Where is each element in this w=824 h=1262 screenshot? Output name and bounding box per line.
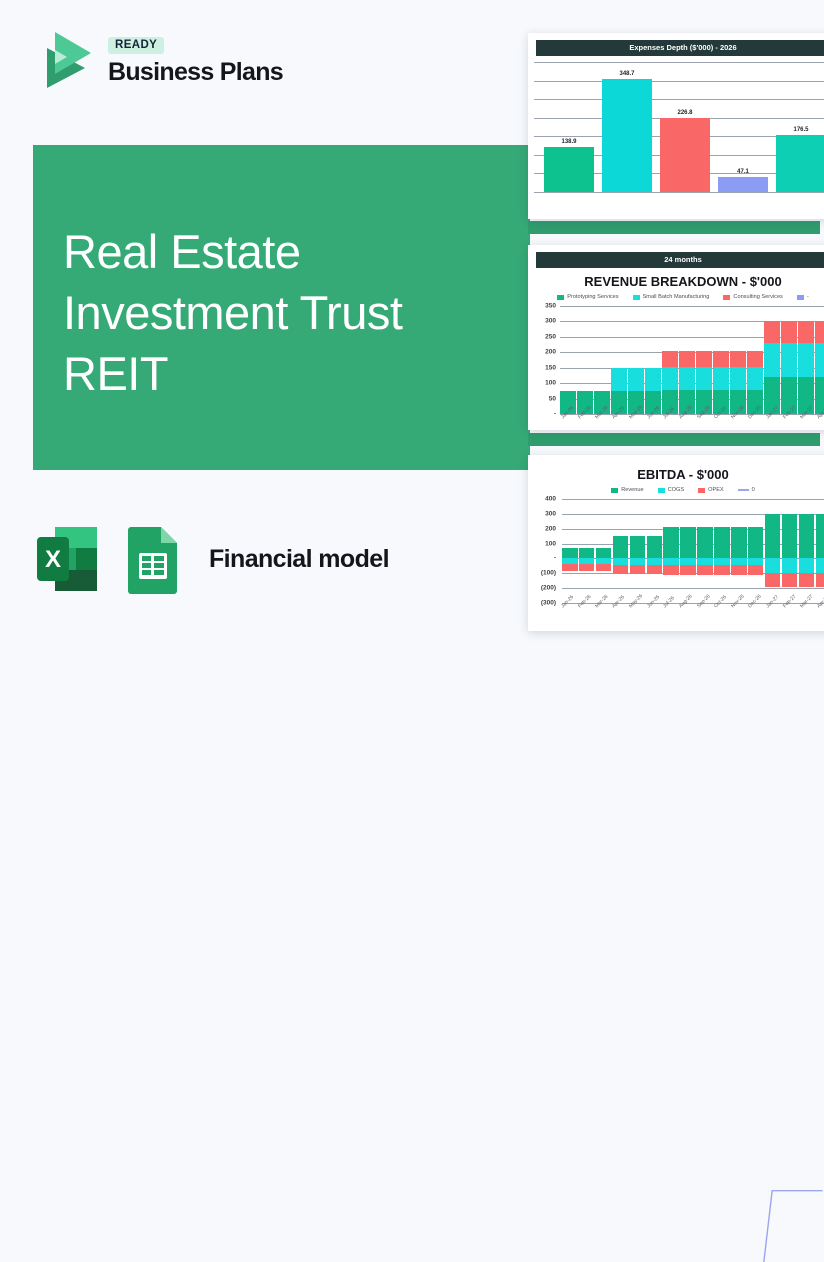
ebitda-legend: RevenueCOGSOPEX0 xyxy=(528,487,824,493)
bar-segment xyxy=(815,321,824,343)
bar-segment xyxy=(781,343,797,377)
bar-segment xyxy=(645,368,661,391)
stacked-bar xyxy=(815,306,824,414)
bar-group xyxy=(748,499,764,603)
stacked-bar xyxy=(577,306,593,414)
brand-lockup: READY Business Plans xyxy=(33,28,283,94)
bar-group xyxy=(765,499,781,603)
page-title: Real Estate Investment Trust REIT xyxy=(63,221,483,404)
bar-segment xyxy=(611,368,627,391)
y-axis-tick: 300 xyxy=(545,318,556,325)
stacked-bar xyxy=(781,306,797,414)
bar-group xyxy=(613,499,629,603)
y-axis-tick: 200 xyxy=(545,349,556,356)
bar-segment xyxy=(662,367,678,390)
legend-swatch xyxy=(611,488,618,493)
legend-item: COGS xyxy=(658,487,684,493)
cogs-bar xyxy=(748,558,764,565)
opex-bar xyxy=(697,565,713,575)
title-banner: Real Estate Investment Trust REIT xyxy=(33,145,530,470)
revenue-bar xyxy=(647,536,663,558)
stacked-bar xyxy=(594,306,610,414)
bar xyxy=(544,147,593,192)
y-axis-tick: 400 xyxy=(545,496,556,503)
opex-bar xyxy=(799,573,815,587)
bar-segment xyxy=(696,367,712,390)
microsoft-excel-icon: X xyxy=(33,523,101,595)
opex-bar xyxy=(816,573,824,587)
revenue-bar xyxy=(579,548,595,558)
charts-column: Expenses Depth ($'000) - 2026 138.9348.7… xyxy=(528,0,824,631)
stacked-bar xyxy=(662,306,678,414)
revenue-bar xyxy=(663,527,679,559)
revenue-bar xyxy=(562,548,578,558)
stacked-bar xyxy=(696,306,712,414)
revenue-bar xyxy=(714,527,730,559)
bar xyxy=(660,118,709,192)
revenue-bar xyxy=(613,536,629,558)
legend-label: Revenue xyxy=(621,487,643,493)
bar-segment xyxy=(781,321,797,343)
left-content-panel: READY Business Plans Real Estate Investm… xyxy=(0,0,530,631)
file-format-row: X Financial model xyxy=(33,523,389,595)
bar-value-label: 226.8 xyxy=(660,110,709,116)
legend-item: Consulting Services xyxy=(723,294,782,300)
ebitda-plot-area: 400300200100-(100)(200)(300) Jan-26Feb-2… xyxy=(534,499,824,603)
accent-strip xyxy=(528,221,820,234)
stacked-bar xyxy=(798,306,814,414)
expenses-plot-area: 138.9348.7226.847.1176.5 xyxy=(534,62,824,192)
bar-group xyxy=(714,499,730,603)
y-axis-tick: - xyxy=(554,555,556,562)
svg-text:X: X xyxy=(45,546,61,573)
legend-item: Prototyping Services xyxy=(557,294,618,300)
bar xyxy=(602,79,651,192)
bar-segment xyxy=(679,367,695,390)
bar-segment xyxy=(747,351,763,366)
legend-swatch xyxy=(738,489,749,491)
bar-group xyxy=(731,499,747,603)
opex-bar xyxy=(579,564,595,571)
ebitda-bars xyxy=(562,499,824,603)
chart-card-ebitda: EBITDA - $'000 RevenueCOGSOPEX0 40030020… xyxy=(528,455,824,631)
legend-swatch xyxy=(797,295,804,300)
bar-group xyxy=(579,499,595,603)
revenue-bar xyxy=(799,514,815,559)
bar-segment xyxy=(815,343,824,377)
bar-value-label: 138.9 xyxy=(544,139,593,145)
legend-label: - xyxy=(807,294,809,300)
bar-segment xyxy=(798,343,814,377)
y-axis-tick: 150 xyxy=(545,364,556,371)
opex-bar xyxy=(613,565,629,574)
x-axis-labels: Jan-26Feb-26Mar-26Apr-26May-26Jun-26Jul-… xyxy=(560,414,824,422)
legend-label: COGS xyxy=(668,487,684,493)
bar-group xyxy=(596,499,612,603)
revenue-bar xyxy=(816,514,824,559)
ready-badge: READY xyxy=(108,37,164,54)
stacked-bar xyxy=(560,306,576,414)
stacked-bar xyxy=(611,306,627,414)
cogs-bar xyxy=(663,558,679,565)
accent-strip xyxy=(528,433,820,446)
y-axis: 35030025020015010050- xyxy=(534,306,556,414)
bar-group xyxy=(782,499,798,603)
legend-swatch xyxy=(557,295,564,300)
legend-label: Prototyping Services xyxy=(567,294,618,300)
opex-bar xyxy=(562,564,578,571)
legend-swatch xyxy=(698,488,705,493)
opex-bar xyxy=(748,565,764,575)
expenses-chart-title: Expenses Depth ($'000) - 2026 xyxy=(536,40,824,56)
bar-group xyxy=(630,499,646,603)
bar-segment xyxy=(713,367,729,390)
bar-group xyxy=(663,499,679,603)
y-axis-tick: (200) xyxy=(541,585,556,592)
y-axis: 400300200100-(100)(200)(300) xyxy=(534,499,556,603)
cogs-bar xyxy=(731,558,747,565)
revenue-bar xyxy=(782,514,798,559)
ebitda-chart-title: EBITDA - $'000 xyxy=(528,467,824,482)
expenses-bars: 138.9348.7226.847.1176.5 xyxy=(540,62,824,192)
revenue-bar xyxy=(596,548,612,558)
legend-item: Revenue xyxy=(611,487,643,493)
cogs-bar xyxy=(799,558,815,572)
bar-segment xyxy=(764,343,780,377)
cogs-bar xyxy=(765,558,781,572)
cogs-bar xyxy=(714,558,730,565)
legend-item: 0 xyxy=(738,487,755,493)
legend-label: Small Batch Manufacturing xyxy=(643,294,710,300)
x-axis-labels: Jan-26Feb-26Mar-26Apr-26May-26Jun-26Jul-… xyxy=(560,603,824,611)
cogs-bar xyxy=(782,558,798,572)
bar-segment xyxy=(713,351,729,366)
opex-bar xyxy=(731,565,747,575)
y-axis-tick: 100 xyxy=(545,380,556,387)
revenue-chart-title: REVENUE BREAKDOWN - $'000 xyxy=(528,274,824,289)
stacked-bar xyxy=(764,306,780,414)
stacked-bar xyxy=(628,306,644,414)
legend-swatch xyxy=(723,295,730,300)
chart-card-revenue: 24 months REVENUE BREAKDOWN - $'000 Prot… xyxy=(528,245,824,430)
revenue-bar xyxy=(731,527,747,559)
ebitda-zero-line xyxy=(562,499,824,1262)
legend-label: 0 xyxy=(752,487,755,493)
google-sheets-icon xyxy=(119,523,187,595)
stacked-bar xyxy=(645,306,661,414)
y-axis-tick: (300) xyxy=(541,600,556,607)
bar xyxy=(718,177,767,192)
y-axis-tick: 300 xyxy=(545,510,556,517)
bar-segment xyxy=(628,368,644,391)
bar-segment xyxy=(662,351,678,366)
y-axis-tick: (100) xyxy=(541,570,556,577)
opex-bar xyxy=(680,565,696,575)
bar-segment xyxy=(730,351,746,366)
bar-value-label: 47.1 xyxy=(718,169,767,175)
bar-group xyxy=(562,499,578,603)
brand-text-block: READY Business Plans xyxy=(108,35,283,87)
cogs-bar xyxy=(697,558,713,565)
bar-group xyxy=(816,499,824,603)
opex-bar xyxy=(782,573,798,587)
stacked-bar xyxy=(730,306,746,414)
bar-group xyxy=(799,499,815,603)
bar-group: 47.1 xyxy=(718,62,767,192)
file-label: Financial model xyxy=(209,545,389,574)
y-axis-tick: 350 xyxy=(545,303,556,310)
bar-value-label: 176.5 xyxy=(776,127,824,133)
brand-name: Business Plans xyxy=(108,58,283,87)
bar-segment xyxy=(798,321,814,343)
opex-bar xyxy=(630,565,646,574)
bar-segment xyxy=(730,367,746,390)
bar-segment xyxy=(696,351,712,366)
opex-bar xyxy=(765,573,781,587)
bar-segment xyxy=(679,351,695,366)
chart-card-expenses: Expenses Depth ($'000) - 2026 138.9348.7… xyxy=(528,33,824,219)
bar-value-label: 348.7 xyxy=(602,71,651,77)
cogs-bar xyxy=(680,558,696,565)
revenue-legend: Prototyping ServicesSmall Batch Manufact… xyxy=(528,294,824,300)
stacked-bar xyxy=(713,306,729,414)
stacked-bar xyxy=(679,306,695,414)
legend-label: OPEX xyxy=(708,487,724,493)
bar-segment xyxy=(747,367,763,390)
y-axis-tick: 100 xyxy=(545,540,556,547)
bar-group: 138.9 xyxy=(544,62,593,192)
opex-bar xyxy=(647,565,663,574)
bar-group: 176.5 xyxy=(776,62,824,192)
play-triangle-logo-icon xyxy=(33,28,95,94)
revenue-bar xyxy=(630,536,646,558)
y-axis-tick: 200 xyxy=(545,525,556,532)
revenue-plot-area: 35030025020015010050- Jan-26Feb-26Mar-26… xyxy=(534,306,824,414)
legend-label: Consulting Services xyxy=(733,294,782,300)
bar-group: 348.7 xyxy=(602,62,651,192)
revenue-bar xyxy=(748,527,764,559)
bar xyxy=(776,135,824,192)
y-axis-tick: - xyxy=(554,411,556,418)
y-axis-tick: 50 xyxy=(549,395,556,402)
revenue-bar xyxy=(697,527,713,559)
bar-group xyxy=(697,499,713,603)
opex-bar xyxy=(596,564,612,571)
bar-group xyxy=(680,499,696,603)
stacked-bar xyxy=(747,306,763,414)
bar-segment xyxy=(764,321,780,343)
legend-swatch xyxy=(658,488,665,493)
revenue-bar xyxy=(680,527,696,559)
bar-group xyxy=(647,499,663,603)
revenue-bars xyxy=(560,306,824,414)
opex-bar xyxy=(714,565,730,575)
opex-bar xyxy=(663,565,679,575)
legend-swatch xyxy=(633,295,640,300)
revenue-period-banner: 24 months xyxy=(536,252,824,268)
legend-item: OPEX xyxy=(698,487,724,493)
bar-group: 226.8 xyxy=(660,62,709,192)
legend-item: - xyxy=(797,294,809,300)
legend-item: Small Batch Manufacturing xyxy=(633,294,710,300)
y-axis-tick: 250 xyxy=(545,333,556,340)
cogs-bar xyxy=(816,558,824,572)
revenue-bar xyxy=(765,514,781,559)
